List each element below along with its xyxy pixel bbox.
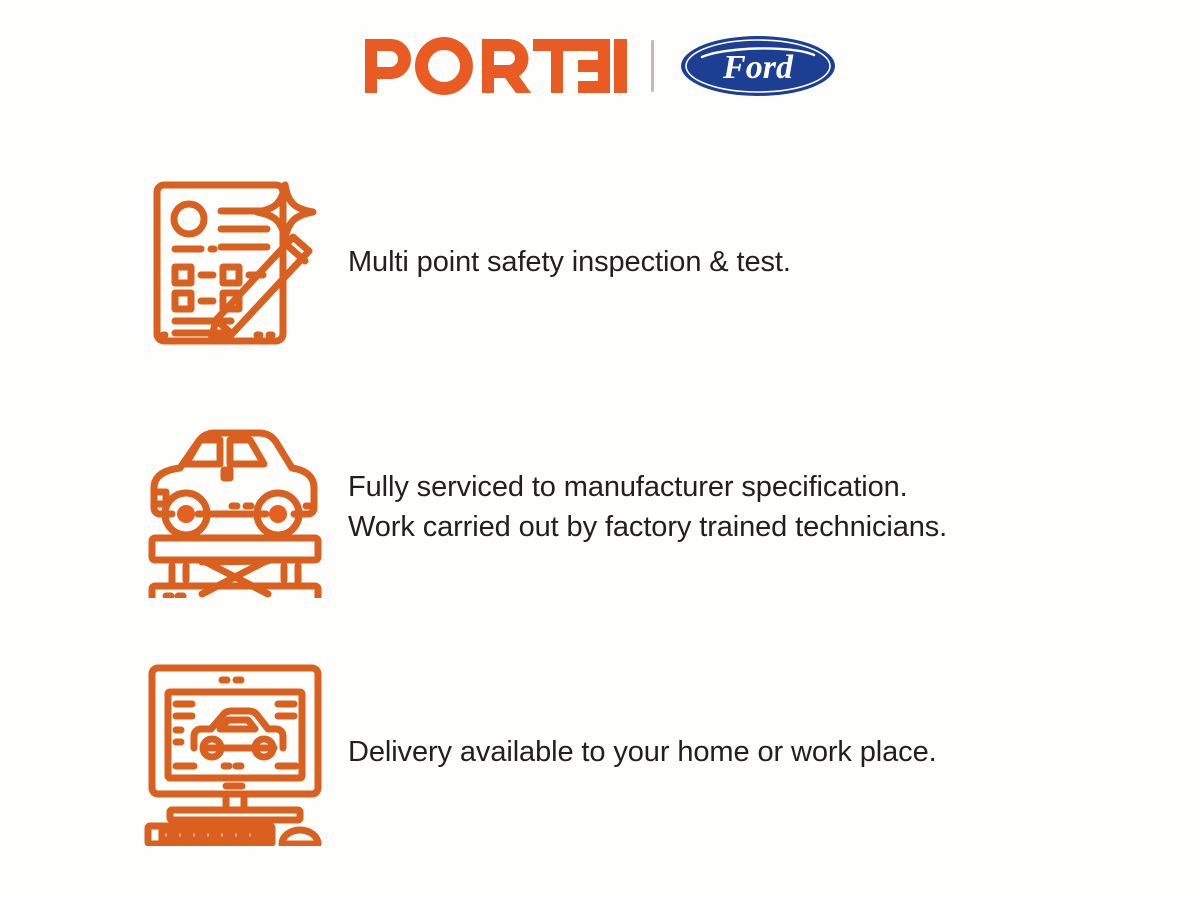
feature-row-service: Fully serviced to manufacturer specifica…	[0, 385, 1200, 630]
feature-row-inspection: Multi point safety inspection & test.	[0, 140, 1200, 385]
brand-divider	[651, 40, 654, 92]
feature-text-service: Fully serviced to manufacturer specifica…	[348, 468, 947, 546]
feature-row-delivery: Delivery available to your home or work …	[0, 630, 1200, 875]
feature-text-inspection: Multi point safety inspection & test.	[348, 243, 791, 282]
porter-wordmark-glyphs	[365, 37, 627, 95]
ford-logo: Ford	[680, 35, 836, 97]
porter-logo	[365, 37, 627, 95]
feature-text-delivery: Delivery available to your home or work …	[348, 733, 937, 772]
ford-oval-glyph: Ford	[680, 35, 836, 97]
brand-header: Ford	[0, 30, 1200, 102]
clipboard-inspection-icon	[140, 168, 330, 358]
car-on-lift-icon	[140, 413, 330, 603]
computer-delivery-icon	[140, 658, 330, 848]
ford-script-text: Ford	[722, 49, 794, 86]
feature-list: Multi point safety inspection & test.	[0, 140, 1200, 875]
